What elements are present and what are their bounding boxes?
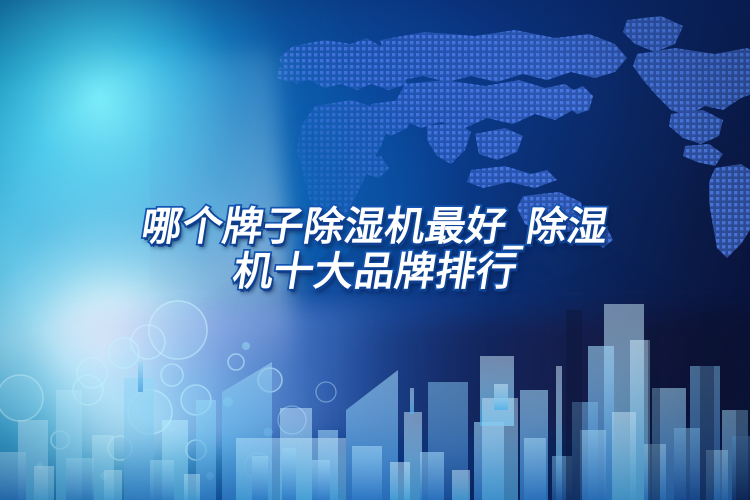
promo-banner: 哪个牌子除湿机最好_除湿 机十大品牌排行 xyxy=(0,0,750,500)
city-skyline xyxy=(0,270,750,500)
